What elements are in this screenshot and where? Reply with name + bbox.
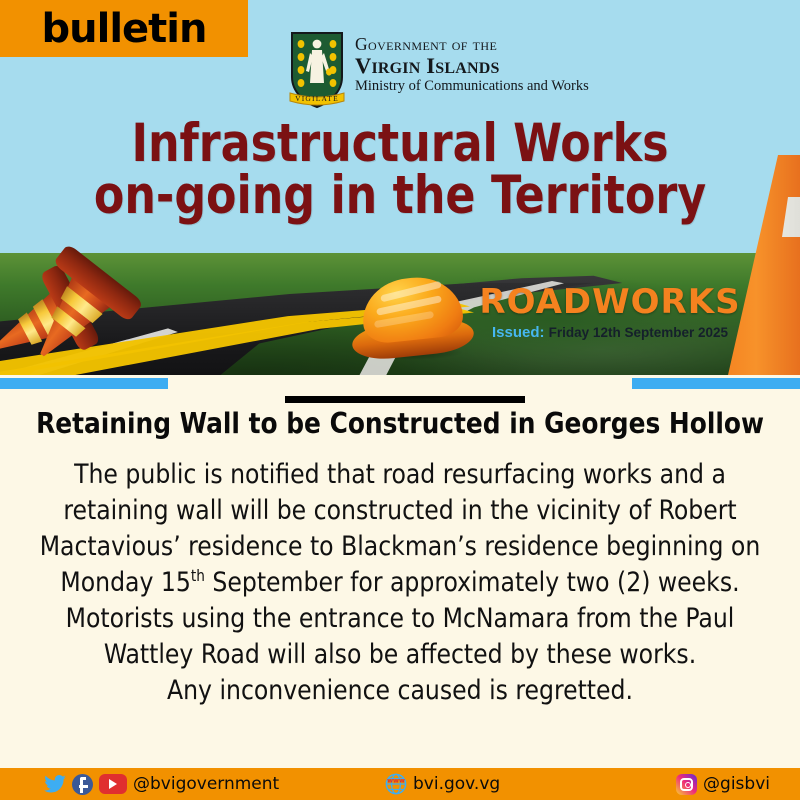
globe-icon: www [385, 773, 407, 795]
issued-date: Friday 12th September 2025 [549, 325, 728, 340]
divider-zone [0, 375, 800, 405]
social-handle: @bvigovernment [133, 776, 279, 793]
headline-rule [285, 396, 525, 403]
bulletin-poster: bulletin [0, 0, 800, 800]
footer-bar: @bvigovernment www bvi.gov.vg @gisbvi [0, 768, 800, 800]
hero-title: Infrastructural Works on-going in the Te… [28, 118, 772, 222]
paragraph-1-ordinal: th [191, 566, 205, 585]
divider-bar-right [632, 378, 800, 389]
hero-title-line-2: on-going in the Territory [28, 170, 772, 222]
article-body: The public is notified that road resurfa… [12, 457, 788, 708]
facebook-icon[interactable] [72, 774, 93, 795]
svg-text:www: www [387, 777, 405, 785]
category-label: ROADWORKS [460, 285, 760, 319]
twitter-icon[interactable] [44, 775, 66, 793]
issued-label: Issued: [492, 324, 545, 341]
article-section: Retaining Wall to be Constructed in Geor… [0, 404, 800, 768]
roadworks-block: ROADWORKS Issued: Friday 12th September … [460, 285, 760, 340]
gov-line-1: Government of the [355, 35, 589, 54]
bulletin-tab: bulletin [0, 0, 248, 57]
paragraph-1-part-b: September for approximately two (2) week… [205, 567, 740, 598]
instagram-icon[interactable] [676, 774, 697, 795]
bulletin-tab-label: bulletin [42, 9, 207, 49]
government-wordmark: Government of the Virgin Islands Ministr… [355, 31, 589, 95]
gov-line-2: Virgin Islands [355, 54, 589, 78]
article-paragraph-2: Motorists using the entrance to McNamara… [24, 601, 777, 673]
youtube-icon[interactable] [99, 774, 127, 794]
coat-of-arms-icon: VIGILATE [288, 31, 346, 109]
ministry-line: Ministry of Communications and Works [355, 78, 589, 94]
government-lockup: VIGILATE Government of the Virgin Island… [288, 31, 589, 109]
website-group: www bvi.gov.vg [385, 773, 500, 795]
issue-line: Issued: Friday 12th September 2025 [460, 325, 760, 340]
social-group-left: @bvigovernment [44, 774, 279, 795]
website-url[interactable]: bvi.gov.vg [413, 776, 500, 793]
article-headline: Retaining Wall to be Constructed in Geor… [12, 408, 788, 439]
instagram-handle: @gisbvi [703, 776, 770, 793]
instagram-group: @gisbvi [676, 774, 770, 795]
hero-section: bulletin [0, 0, 800, 375]
divider-bar-left [0, 378, 168, 389]
svg-text:VIGILATE: VIGILATE [295, 94, 339, 103]
hard-hat-icon [352, 278, 474, 362]
article-paragraph-3: Any inconvenience caused is regretted. [24, 673, 777, 709]
article-paragraph-1: The public is notified that road resurfa… [24, 457, 777, 601]
